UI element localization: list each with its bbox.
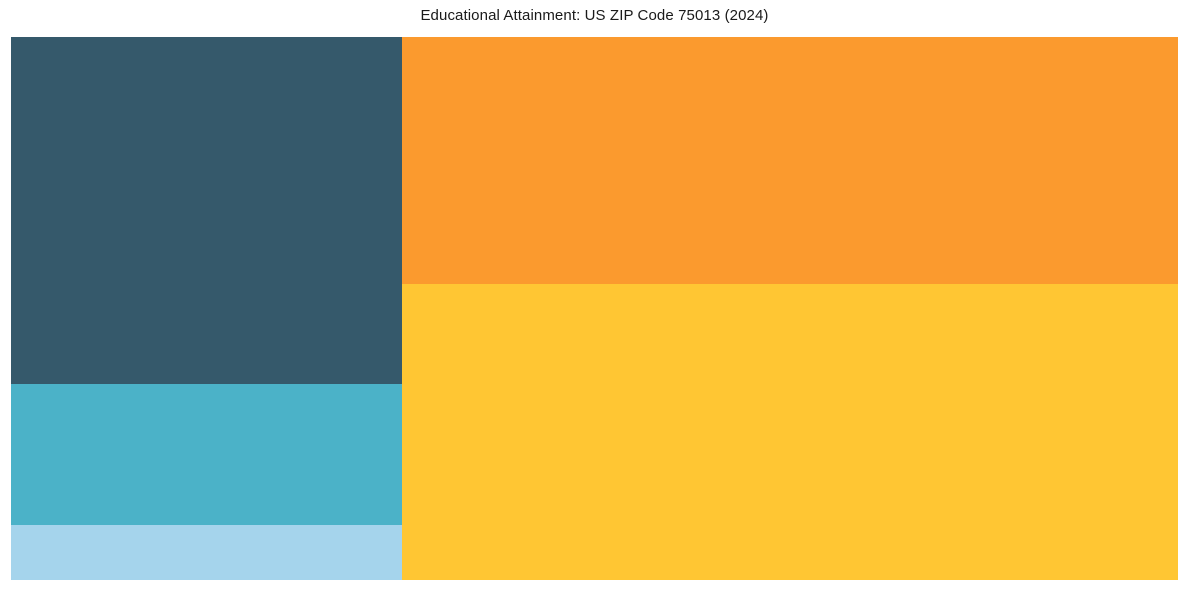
figure-canvas: Educational Attainment: US ZIP Code 7501… [0,0,1189,590]
treemap-tile-dark-blue[interactable]: Bachelor's degree [11,37,402,384]
treemap-tile-teal[interactable]: Graduate or professional degree [11,384,402,525]
treemap-plot-area: Bachelor's degree Graduate or profession… [11,37,1178,580]
treemap-tile-light-blue[interactable]: Less than high school [11,525,402,580]
treemap-right-column: Some college or associate's degree High … [402,37,1178,580]
treemap-left-column: Bachelor's degree Graduate or profession… [11,37,402,580]
chart-title: Educational Attainment: US ZIP Code 7501… [0,7,1189,24]
treemap-tile-yellow[interactable]: High school graduate [402,284,1178,580]
treemap-tile-orange[interactable]: Some college or associate's degree [402,37,1178,284]
